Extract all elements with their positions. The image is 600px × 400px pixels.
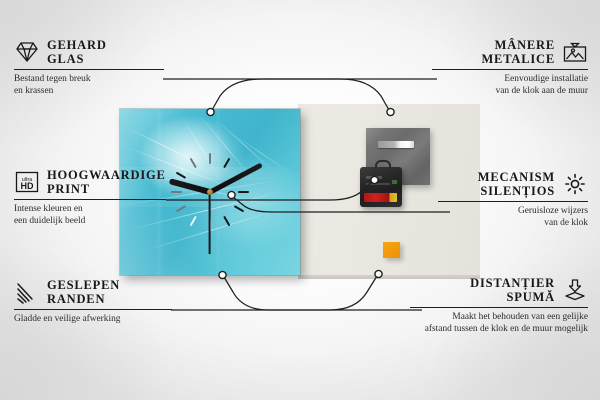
svg-text:HD: HD [21, 181, 34, 191]
foam-spacer [383, 242, 400, 258]
callout-description: Bestand tegen breuken krassen [14, 74, 164, 97]
callout-rule [14, 309, 172, 310]
callout-description: Eenvoudige installatievan de klok aan de… [432, 74, 588, 97]
ultra-hd-icon: ultra HD [14, 170, 40, 194]
callout-title: DISTANȚIERSPUMĂ [470, 276, 555, 304]
diamond-icon [14, 40, 40, 64]
callout-header: GESLEPENRANDEN [14, 278, 172, 306]
callout-description: Maakt het behouden van een gelijkeafstan… [410, 312, 588, 335]
callout-description: Gladde en veilige afwerking [14, 314, 172, 325]
callout-rule [410, 307, 588, 308]
callout-description: Geruisloze wijzersvan de klok [438, 206, 588, 229]
callout-hoogwaardige-print: ultra HD HOOGWAARDIGEPRINT Intense kleur… [14, 168, 166, 227]
callout-manere-metalice: MÂNEREMETALICE Eenvoudige installatievan… [432, 38, 588, 97]
battery [364, 193, 397, 202]
callout-rule [14, 69, 164, 70]
callout-geslepen-randen: GESLEPENRANDEN Gladde en veilige afwerki… [14, 278, 172, 326]
callout-header: MECANISMSILENȚIOS [438, 170, 588, 198]
product-composition [120, 104, 480, 280]
callout-rule [438, 201, 588, 202]
callout-description: Intense kleuren eneen duidelijk beeld [14, 204, 166, 227]
callout-title: GEHARDGLAS [47, 38, 107, 66]
callout-title: HOOGWAARDIGEPRINT [47, 168, 166, 196]
mechanism-green-mark [392, 180, 397, 184]
callout-title: MECANISMSILENȚIOS [478, 170, 555, 198]
mechanism-label-mark [366, 176, 382, 179]
callout-rule [14, 199, 166, 200]
bevelled-edges-icon [14, 280, 40, 304]
clock-mechanism [360, 167, 402, 207]
picture-frame-icon [562, 40, 588, 64]
callout-header: MÂNEREMETALICE [432, 38, 588, 66]
callout-title: GESLEPENRANDEN [47, 278, 120, 306]
callout-gehard-glas: GEHARDGLAS Bestand tegen breuken krassen [14, 38, 164, 97]
gear-icon [562, 172, 588, 196]
clock-center-cap [207, 189, 213, 195]
callout-header: DISTANȚIERSPUMĂ [410, 276, 588, 304]
spacer-stack-icon [562, 278, 588, 302]
infographic-canvas: GEHARDGLAS Bestand tegen breuken krassen… [0, 0, 600, 400]
callout-header: GEHARDGLAS [14, 38, 164, 66]
mechanism-hanger-loop [375, 160, 391, 170]
mechanism-label-mark [366, 183, 390, 185]
callout-distantier-spuma: DISTANȚIERSPUMĂ Maakt het behouden van e… [410, 276, 588, 335]
clock-second-hand [209, 192, 211, 254]
callout-title: MÂNEREMETALICE [481, 38, 555, 66]
callout-rule [432, 69, 588, 70]
callout-mecanism-silentios: MECANISMSILENȚIOS Geruisloze wijzersvan … [438, 170, 588, 229]
callout-header: ultra HD HOOGWAARDIGEPRINT [14, 168, 166, 196]
